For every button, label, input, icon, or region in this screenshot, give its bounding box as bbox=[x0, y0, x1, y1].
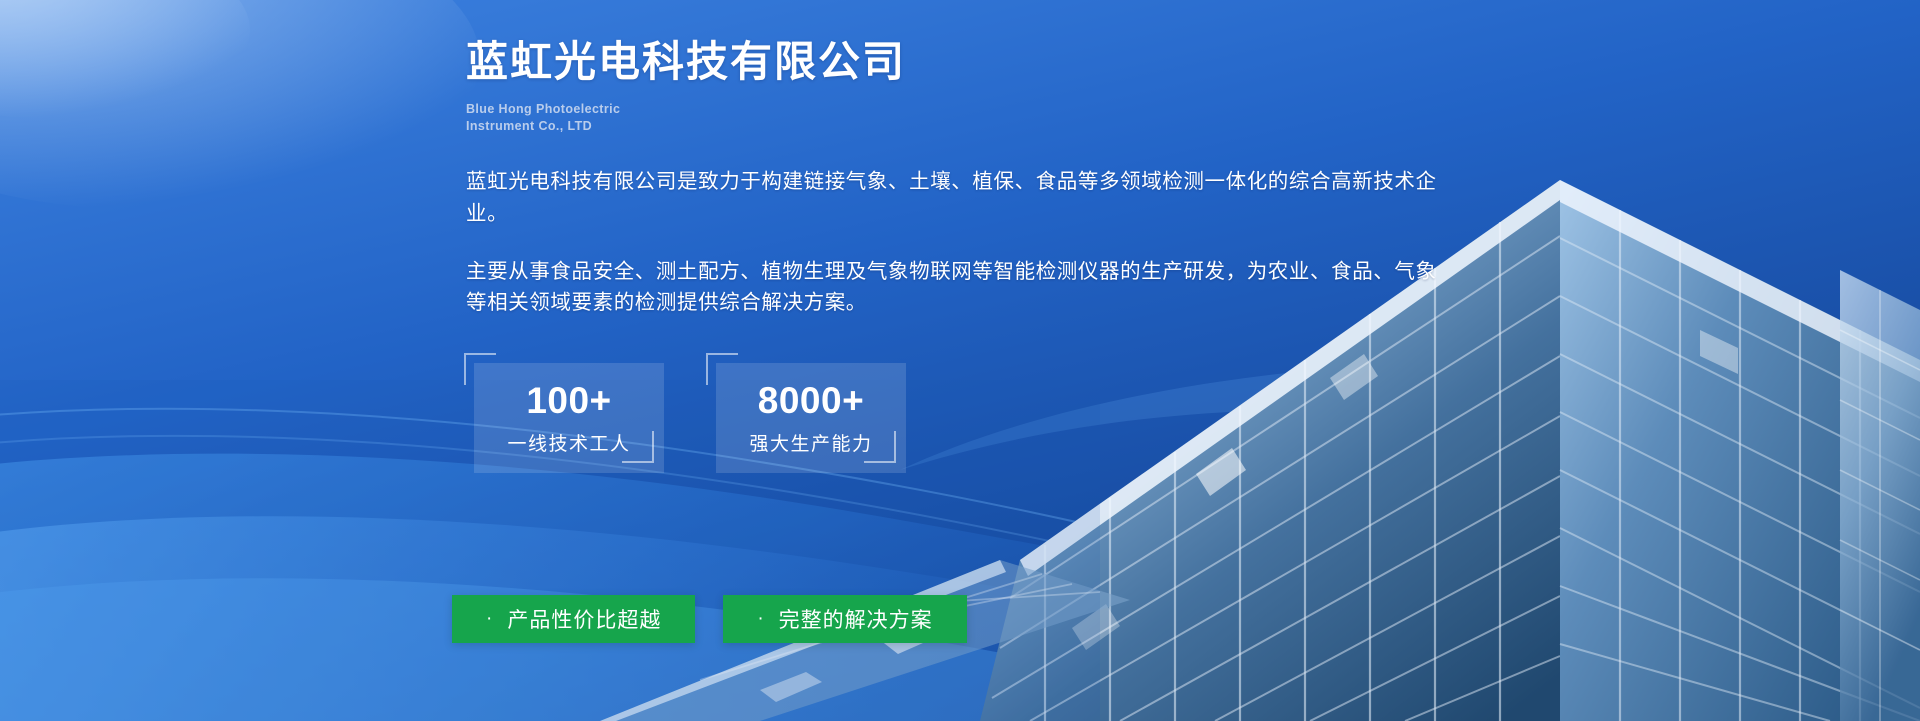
pill-label: 产品性价比超越 bbox=[507, 604, 661, 634]
hero-banner: 蓝虹光电科技有限公司 Blue Hong Photoelectric Instr… bbox=[0, 0, 1920, 721]
company-subtitle-line-1: Blue Hong Photoelectric bbox=[466, 101, 1476, 119]
bullet-dot-icon: · bbox=[757, 609, 764, 628]
stat-card-capacity: 8000+ 强大生产能力 bbox=[716, 363, 906, 473]
stat-caption: 一线技术工人 bbox=[507, 435, 630, 454]
company-subtitle-line-2: Instrument Co., LTD bbox=[466, 118, 1476, 136]
stats-group: 100+ 一线技术工人 8000+ 强大生产能力 bbox=[474, 363, 1476, 473]
stat-value: 8000+ bbox=[758, 382, 864, 419]
stat-caption: 强大生产能力 bbox=[749, 435, 872, 454]
intro-paragraph: 蓝虹光电科技有限公司是致力于构建链接气象、土壤、植保、食品等多领域检测一体化的综… bbox=[466, 166, 1441, 230]
bullet-dot-icon: · bbox=[486, 609, 493, 628]
business-paragraph: 主要从事食品安全、测土配方、植物生理及气象物联网等智能检测仪器的生产研发，为农业… bbox=[466, 256, 1441, 320]
stat-card-workers: 100+ 一线技术工人 bbox=[474, 363, 664, 473]
pill-complete-solution[interactable]: · 完整的解决方案 bbox=[723, 595, 966, 643]
pill-label: 完整的解决方案 bbox=[779, 604, 933, 634]
highlight-pills: · 产品性价比超越 · 完整的解决方案 bbox=[452, 595, 967, 643]
stat-value: 100+ bbox=[526, 382, 611, 419]
banner-content: 蓝虹光电科技有限公司 Blue Hong Photoelectric Instr… bbox=[466, 36, 1476, 473]
company-subtitle-en: Blue Hong Photoelectric Instrument Co., … bbox=[466, 101, 1476, 137]
pill-price-performance[interactable]: · 产品性价比超越 bbox=[452, 595, 695, 643]
company-title: 蓝虹光电科技有限公司 bbox=[466, 36, 1476, 89]
